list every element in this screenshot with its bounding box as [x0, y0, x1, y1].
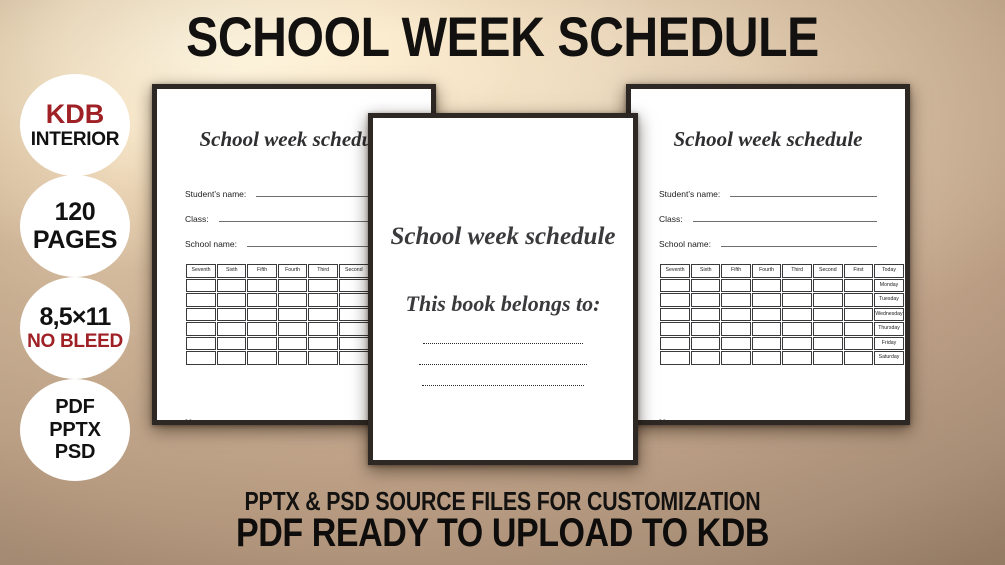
table-cell-empty — [186, 279, 216, 293]
badge-size-line2: NO BLEED — [27, 331, 123, 352]
field-label-class: Class: — [659, 214, 683, 224]
field-label-class: Class: — [185, 214, 209, 224]
field-row: Class: — [659, 199, 905, 224]
table-cell-day: Thursday — [874, 322, 904, 336]
field-row: School name: — [659, 224, 905, 249]
table-cell-empty — [844, 322, 873, 336]
table-cell-empty — [217, 337, 246, 351]
table-cell-empty — [721, 322, 750, 336]
badge-file-formats: PDF PPTX PSD — [20, 379, 130, 481]
table-cell-empty — [782, 322, 811, 336]
table-row: Saturday — [660, 351, 904, 365]
table-cell-empty — [691, 279, 720, 293]
table-cell-empty — [782, 279, 811, 293]
table-row: Wednesday — [660, 308, 904, 322]
table-cell-empty — [186, 293, 216, 307]
schedule-title: School week schedule — [631, 127, 905, 152]
table-cell-empty — [660, 322, 690, 336]
table-cell-empty — [339, 322, 369, 336]
table-cell-empty — [782, 293, 811, 307]
badge-formats-line3: PSD — [55, 441, 96, 463]
badge-size-line1: 8,5×11 — [40, 303, 111, 331]
notes-label: Nots : — [659, 418, 681, 425]
table-cell-empty — [339, 279, 369, 293]
table-cell-day: Saturday — [874, 351, 904, 365]
table-cell-empty — [308, 308, 337, 322]
schedule-fields: Student’s name: Class: School name: — [659, 174, 905, 249]
field-row: Student’s name: — [659, 174, 905, 199]
table-header-period: Seventh — [660, 264, 690, 278]
table-cell-empty — [308, 337, 337, 351]
table-cell-empty — [813, 351, 843, 365]
table-cell-empty — [660, 308, 690, 322]
schedule-table-right: SeventhSixthFifthFourthThirdSecondFirstT… — [659, 263, 905, 366]
table-cell-empty — [813, 293, 843, 307]
table-cell-empty — [844, 351, 873, 365]
table-cell-empty — [721, 293, 750, 307]
table-cell-empty — [308, 293, 337, 307]
table-cell-empty — [186, 337, 216, 351]
table-cell-empty — [278, 322, 308, 336]
table-cell-empty — [782, 351, 811, 365]
table-cell-empty — [844, 279, 873, 293]
table-row: Monday — [660, 279, 904, 293]
table-cell-empty — [752, 337, 782, 351]
preview-page-right: School week schedule Student’s name: Cla… — [626, 84, 910, 425]
table-row: Friday — [660, 337, 904, 351]
cover-blank-line — [419, 364, 587, 365]
table-cell-empty — [813, 279, 843, 293]
table-cell-empty — [844, 337, 873, 351]
table-header-period: Third — [308, 264, 337, 278]
table-cell-empty — [752, 293, 782, 307]
table-header-today: Today — [874, 264, 904, 278]
table-header-period: Fifth — [247, 264, 276, 278]
page-title: SCHOOL WEEK SCHEDULE — [70, 8, 934, 67]
table-cell-day: Wednesday — [874, 308, 904, 322]
table-cell-empty — [308, 322, 337, 336]
field-rule — [730, 196, 877, 197]
table-cell-empty — [247, 322, 276, 336]
table-cell-empty — [217, 322, 246, 336]
table-cell-empty — [660, 351, 690, 365]
table-cell-empty — [339, 293, 369, 307]
badge-kdb-line1: KDB — [46, 99, 105, 129]
table-cell-empty — [752, 351, 782, 365]
table-cell-empty — [691, 351, 720, 365]
table-cell-empty — [691, 293, 720, 307]
table-cell-empty — [691, 322, 720, 336]
footer-line-2: PDF READY TO UPLOAD TO KDB — [75, 512, 929, 554]
table-cell-empty — [691, 308, 720, 322]
table-cell-empty — [247, 337, 276, 351]
table-cell-empty — [660, 279, 690, 293]
table-cell-empty — [278, 351, 308, 365]
field-rule — [721, 246, 877, 247]
table-header-period: Sixth — [691, 264, 720, 278]
table-cell-empty — [278, 308, 308, 322]
table-cell-empty — [721, 308, 750, 322]
table-cell-empty — [339, 351, 369, 365]
table-cell-empty — [186, 351, 216, 365]
table-cell-empty — [247, 351, 276, 365]
table-row: Thursday — [660, 322, 904, 336]
table-cell-empty — [691, 337, 720, 351]
table-cell-empty — [844, 293, 873, 307]
cover-blank-lines — [373, 343, 633, 386]
table-cell-empty — [278, 279, 308, 293]
table-cell-empty — [247, 293, 276, 307]
cover-title: School week schedule — [373, 223, 633, 251]
table-header-period: Fourth — [752, 264, 782, 278]
table-header-period: Fifth — [721, 264, 750, 278]
table-header-period: First — [844, 264, 873, 278]
table-cell-empty — [782, 337, 811, 351]
table-cell-empty — [186, 308, 216, 322]
badge-kdb-interior: KDB INTERIOR — [20, 74, 130, 176]
field-rule — [693, 221, 877, 222]
notes-label: Nots : — [185, 418, 207, 425]
table-cell-empty — [308, 351, 337, 365]
table-header-period: Third — [782, 264, 811, 278]
cover-blank-line — [422, 385, 584, 386]
schedule-table-body: SeventhSixthFifthFourthThirdSecondFirstT… — [660, 264, 904, 365]
badge-page-count: 120 PAGES — [20, 175, 130, 277]
cover-blank-line — [423, 343, 583, 344]
field-label-student-name: Student’s name: — [185, 189, 246, 199]
preview-page-center-cover: School week schedule This book belongs t… — [368, 113, 638, 465]
table-row: Tuesday — [660, 293, 904, 307]
table-header-period: Seventh — [186, 264, 216, 278]
badge-pages-line2: PAGES — [33, 226, 117, 254]
table-cell-empty — [752, 322, 782, 336]
table-cell-empty — [247, 308, 276, 322]
badge-pages-line1: 120 — [55, 198, 96, 226]
table-cell-empty — [339, 308, 369, 322]
table-cell-day: Friday — [874, 337, 904, 351]
table-cell-empty — [752, 308, 782, 322]
table-cell-empty — [308, 279, 337, 293]
table-cell-empty — [339, 337, 369, 351]
table-header-period: Sixth — [217, 264, 246, 278]
field-label-student-name: Student’s name: — [659, 189, 720, 199]
table-cell-empty — [660, 293, 690, 307]
table-cell-day: Monday — [874, 279, 904, 293]
table-cell-empty — [721, 337, 750, 351]
table-cell-empty — [782, 308, 811, 322]
table-cell-empty — [752, 279, 782, 293]
badge-formats-line2: PPTX — [49, 419, 100, 441]
badge-formats-line1: PDF — [55, 396, 94, 418]
table-header-period: Second — [339, 264, 369, 278]
table-cell-empty — [278, 293, 308, 307]
table-cell-empty — [844, 308, 873, 322]
table-cell-empty — [813, 322, 843, 336]
table-cell-empty — [217, 351, 246, 365]
table-cell-empty — [813, 308, 843, 322]
field-label-school-name: School name: — [185, 239, 237, 249]
table-header-period: Second — [813, 264, 843, 278]
table-cell-empty — [660, 337, 690, 351]
table-cell-empty — [721, 279, 750, 293]
badge-kdb-line2: INTERIOR — [31, 129, 119, 150]
cover-belongs-to: This book belongs to: — [373, 291, 633, 317]
table-cell-empty — [217, 308, 246, 322]
table-cell-empty — [278, 337, 308, 351]
table-cell-day: Tuesday — [874, 293, 904, 307]
badge-trim-size: 8,5×11 NO BLEED — [20, 277, 130, 379]
table-header-period: Fourth — [278, 264, 308, 278]
table-cell-empty — [721, 351, 750, 365]
table-cell-empty — [247, 279, 276, 293]
field-label-school-name: School name: — [659, 239, 711, 249]
table-cell-empty — [217, 293, 246, 307]
table-row: SeventhSixthFifthFourthThirdSecondFirstT… — [660, 264, 904, 278]
table-cell-empty — [217, 279, 246, 293]
table-cell-empty — [186, 322, 216, 336]
table-cell-empty — [813, 337, 843, 351]
